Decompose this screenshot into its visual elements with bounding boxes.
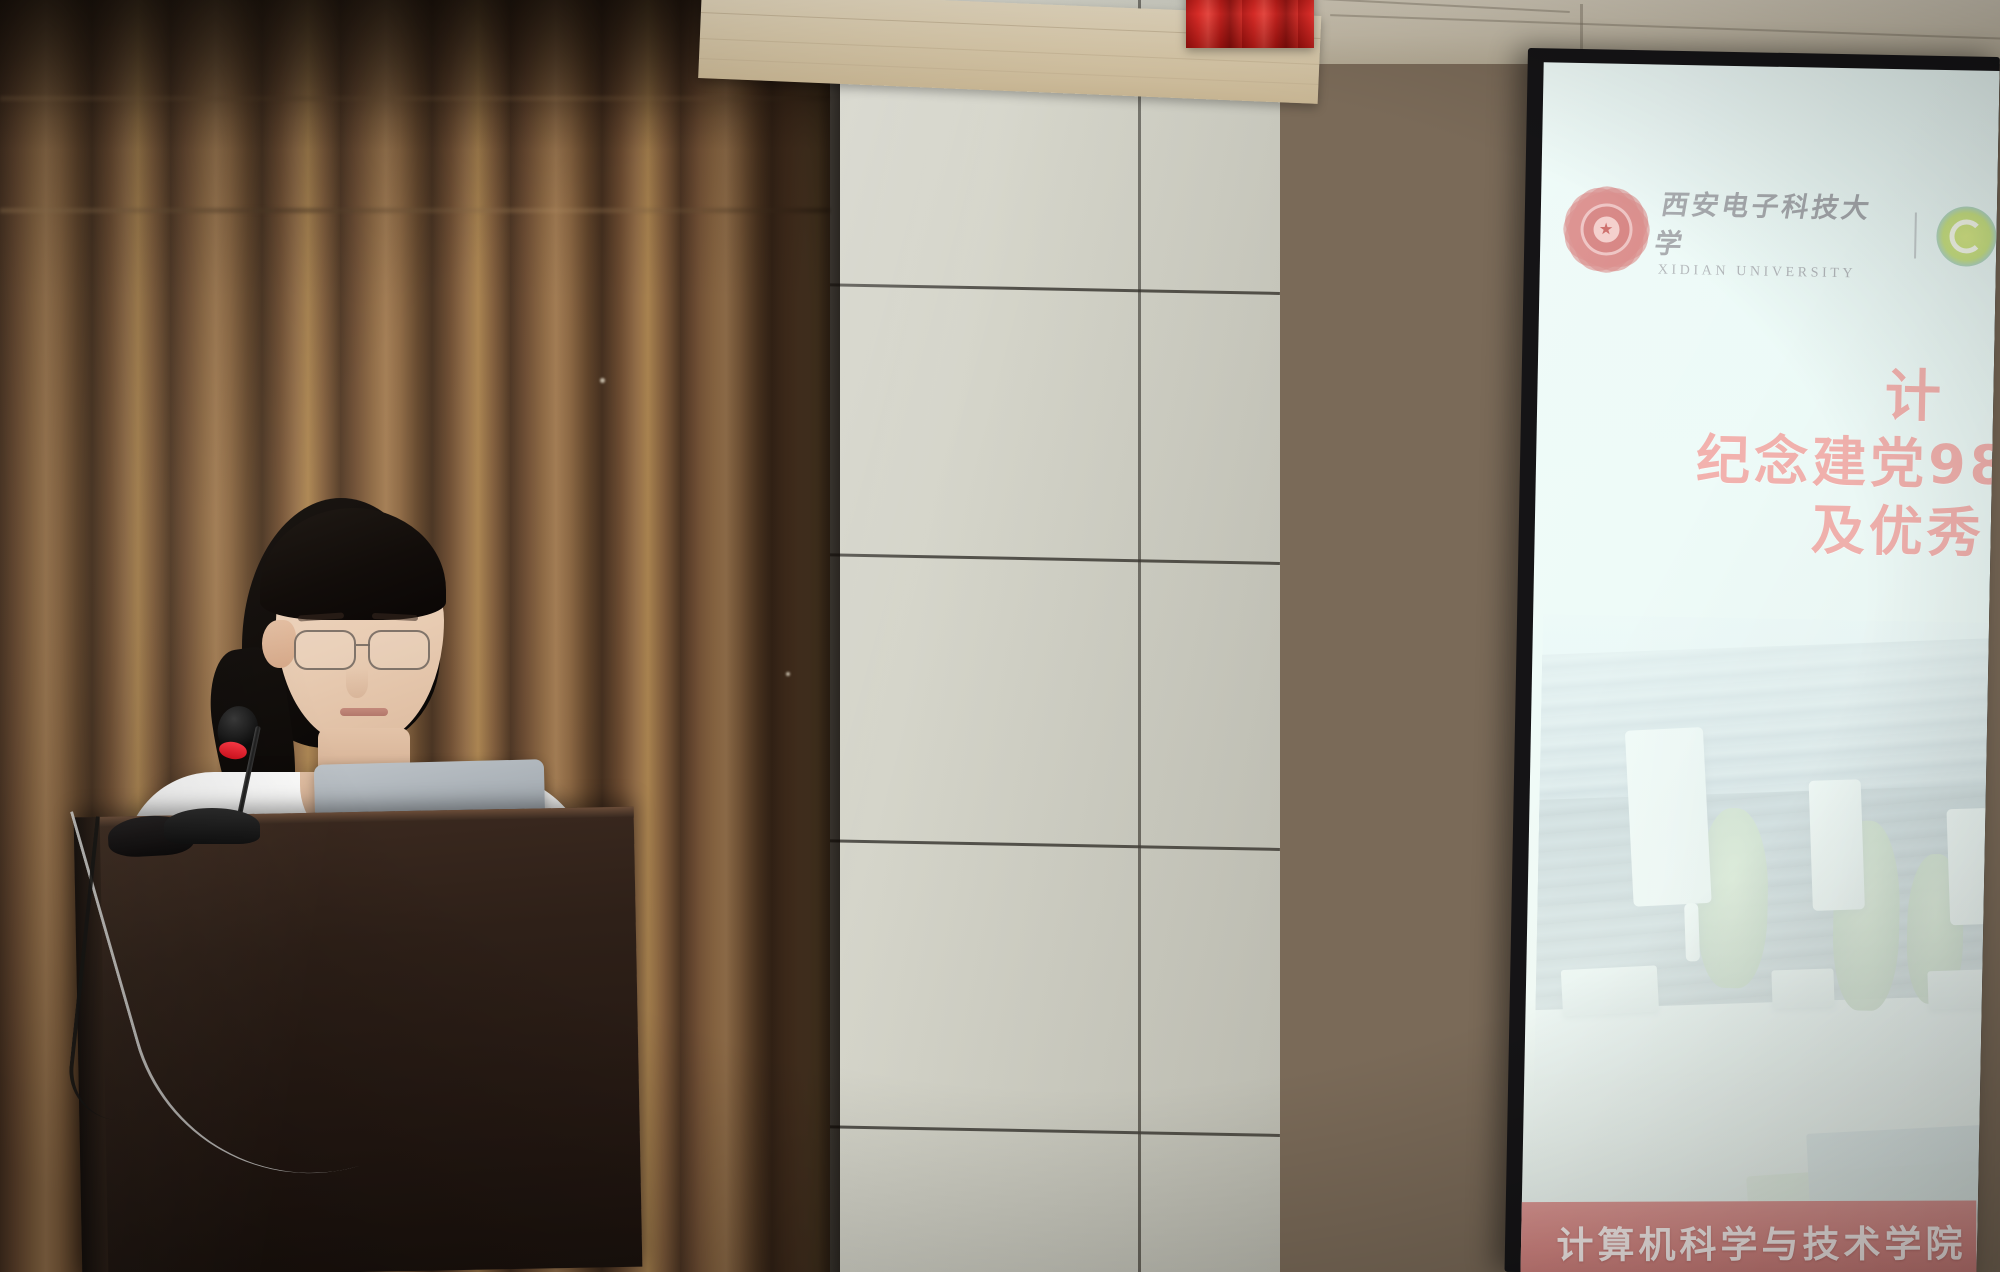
microphone-base [164,808,260,844]
mouth [340,708,388,716]
photograph-scene: 西安电子科技大学 XIDIAN UNIVERSITY 计 纪念建党98周年 及优… [0,0,2000,1272]
slide-footer-text: 计算机科学与技术学院 [1556,1214,1966,1269]
university-name-cn: 西安电子科技大学 [1652,183,1902,265]
slide-title-line-2: 纪念建党98周年 [1695,426,1992,500]
slide-title-block: 计 纪念建党98周年 及优秀 [1534,358,1994,568]
university-wordmark: 西安电子科技大学 XIDIAN UNIVERSITY [1658,183,1896,284]
projection-screen[interactable]: 西安电子科技大学 XIDIAN UNIVERSITY 计 纪念建党98周年 及优… [1505,48,2000,1272]
red-hanging-banner [1186,0,1314,48]
university-name-en: XIDIAN UNIVERSITY [1658,263,1894,284]
slide-logo-row: 西安电子科技大学 XIDIAN UNIVERSITY [1568,181,1998,285]
slide-title-line-3: 及优秀 [1804,496,1991,568]
slide-title-line-1: 计 [1837,364,1994,432]
wooden-lectern [74,807,643,1272]
xidian-university-crest-icon [1568,191,1645,268]
nose [346,668,368,698]
presentation-slide: 西安电子科技大学 XIDIAN UNIVERSITY 计 纪念建党98周年 及优… [1520,62,1999,1272]
logo-divider [1914,212,1917,258]
campus-building-photograph [1531,614,1989,1246]
slide-footer-band: 计算机科学与技术学院 [1520,1200,1976,1272]
accreditation-badge-icon [1936,206,1997,267]
eyeglasses [290,630,450,672]
